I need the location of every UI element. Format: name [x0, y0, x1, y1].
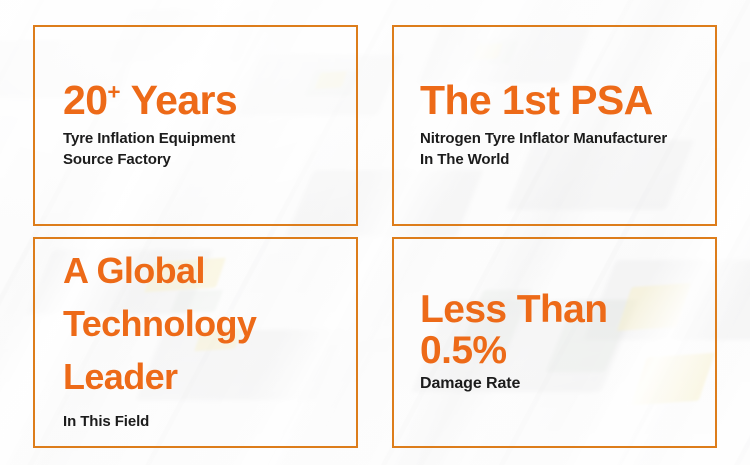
card-subtext-line-2: Source Factory — [63, 150, 328, 171]
headline-plus-superscript: + — [107, 80, 120, 105]
card-headline-line-1: A Global — [63, 253, 328, 289]
card-headline-line-2: 0.5% — [420, 331, 689, 371]
card-headline-first-psa: The 1st PSA — [420, 80, 689, 120]
feature-card-technology-leader: A Global Technology Leader In This Field — [33, 237, 358, 448]
card-subtext-line-1: Damage Rate — [420, 373, 689, 395]
card-headline-line-3: Leader — [63, 359, 328, 395]
card-headline-years: 20+ Years — [63, 80, 328, 120]
feature-card-years-experience: 20+ Years Tyre Inflation Equipment Sourc… — [33, 25, 358, 226]
card-subtext-line-1: Tyre Inflation Equipment — [63, 129, 328, 150]
feature-card-grid: 20+ Years Tyre Inflation Equipment Sourc… — [33, 25, 717, 448]
banner-stage: 20+ Years Tyre Inflation Equipment Sourc… — [0, 0, 750, 465]
headline-number: 20 — [63, 77, 107, 123]
headline-years-label: Years — [121, 77, 238, 123]
card-headline-line-1: Less Than — [420, 290, 689, 330]
card-subtext-line-1: Nitrogen Tyre Inflator Manufacturer — [420, 129, 689, 150]
feature-card-first-psa: The 1st PSA Nitrogen Tyre Inflator Manuf… — [392, 25, 717, 226]
card-subtext-line-1: In This Field — [63, 412, 328, 433]
card-subtext-line-2: In The World — [420, 150, 689, 171]
card-headline-line-2: Technology — [63, 306, 328, 342]
feature-card-damage-rate: Less Than 0.5% Damage Rate — [392, 237, 717, 448]
